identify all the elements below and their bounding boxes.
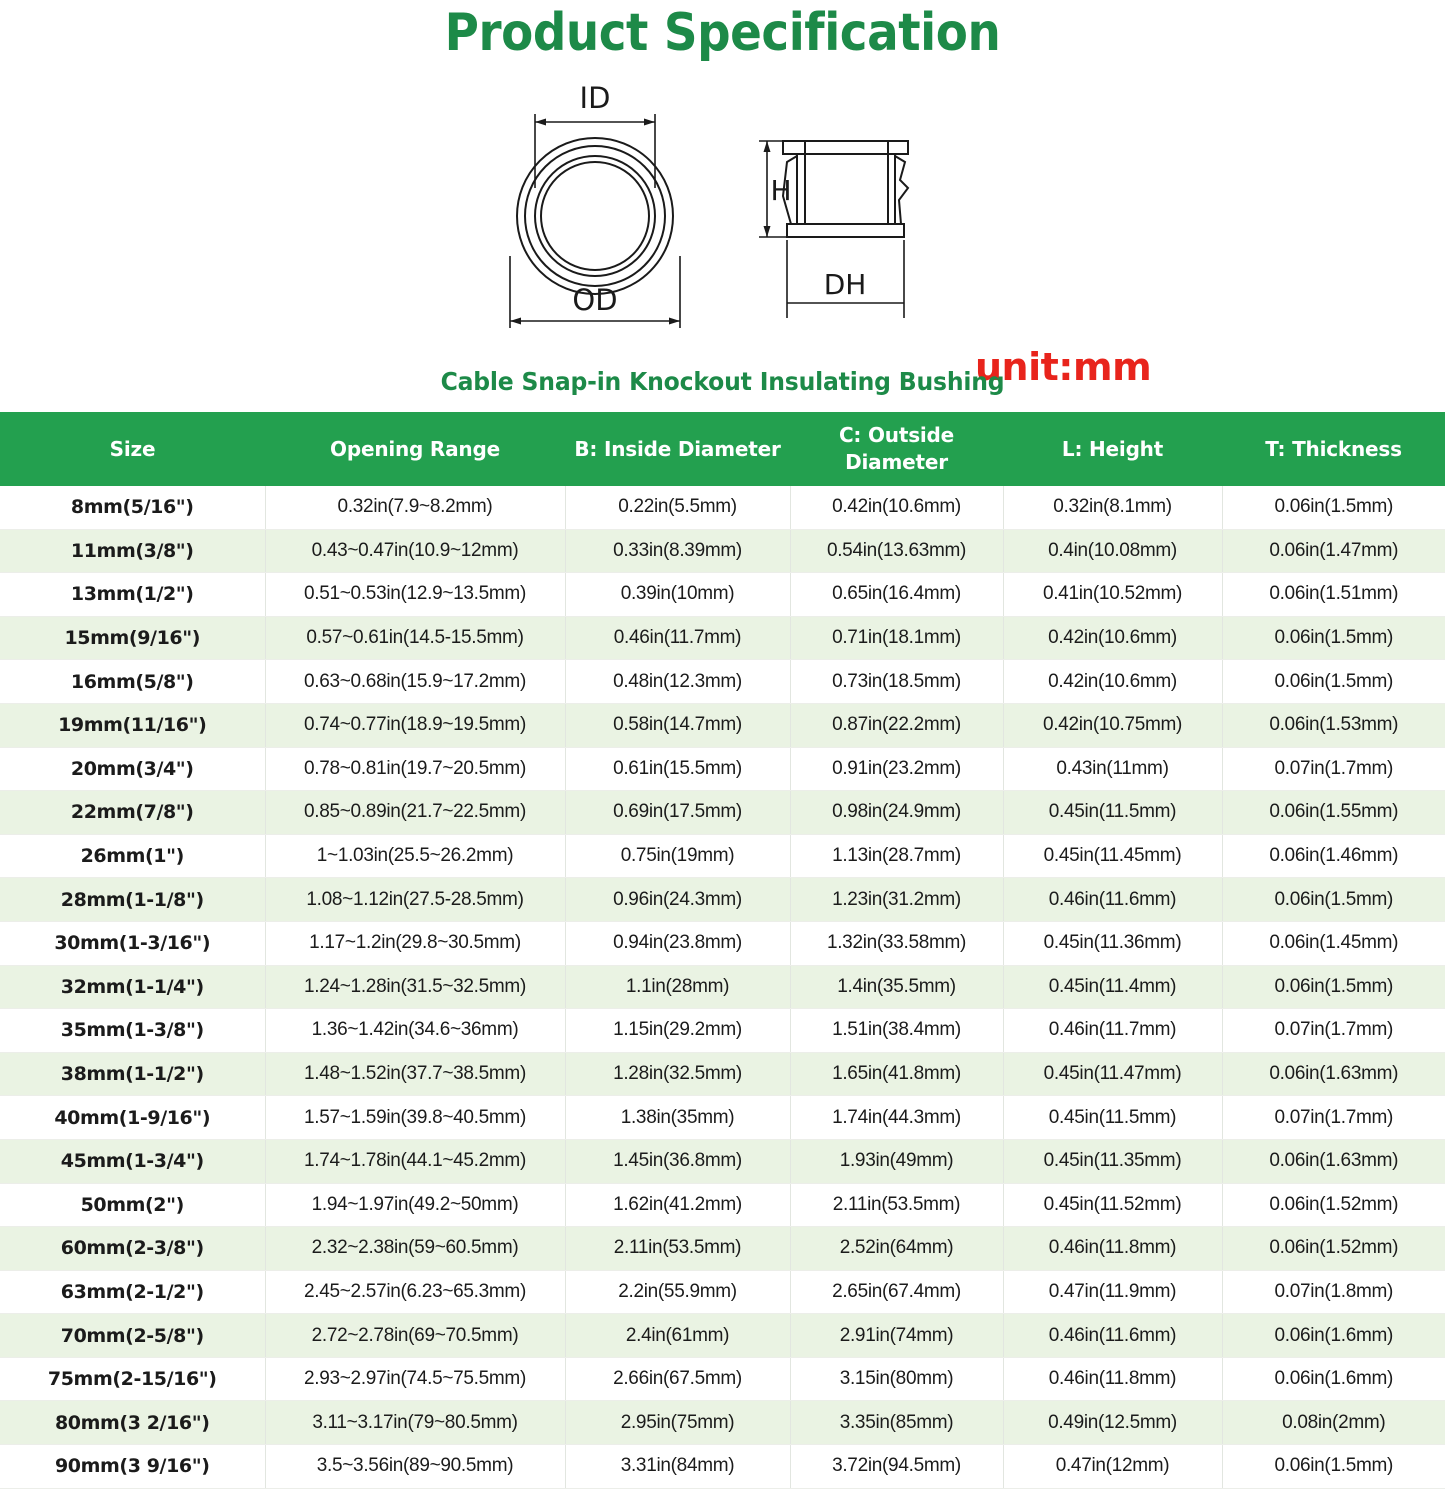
cell-opening-range: 2.72~2.78in(69~70.5mm) — [265, 1314, 565, 1358]
cell-height: 0.41in(10.52mm) — [1003, 573, 1222, 617]
cell-inside-diameter: 0.61in(15.5mm) — [565, 747, 790, 791]
table-row: 15mm(9/16")0.57~0.61in(14.5-15.5mm)0.46i… — [0, 616, 1445, 660]
column-header-outside-diameter: C: Outside Diameter — [790, 412, 1003, 486]
cell-inside-diameter: 0.46in(11.7mm) — [565, 616, 790, 660]
cell-inside-diameter: 1.28in(32.5mm) — [565, 1052, 790, 1096]
outer-diameter-circle-inner-edge — [525, 146, 665, 286]
cell-height: 0.46in(11.8mm) — [1003, 1357, 1222, 1401]
cell-opening-range: 2.32~2.38in(59~60.5mm) — [265, 1227, 565, 1271]
cell-height: 0.46in(11.8mm) — [1003, 1227, 1222, 1271]
table-row: 90mm(3 9/16")3.5~3.56in(89~90.5mm)3.31in… — [0, 1445, 1445, 1489]
page-title: Product Specification — [72, 2, 1373, 64]
od-label: OD — [572, 283, 617, 317]
cell-opening-range: 1.94~1.97in(49.2~50mm) — [265, 1183, 565, 1227]
bottom-lip — [787, 224, 904, 237]
cell-thickness: 0.06in(1.45mm) — [1222, 921, 1445, 965]
cell-outside-diameter: 0.87in(22.2mm) — [790, 703, 1003, 747]
column-header-thickness: T: Thickness — [1222, 412, 1445, 486]
cell-height: 0.46in(11.6mm) — [1003, 878, 1222, 922]
dh-label: DH — [824, 268, 867, 301]
product-subtitle: Cable Snap-in Knockout Insulating Bushin… — [43, 365, 1401, 399]
cell-outside-diameter: 2.65in(67.4mm) — [790, 1270, 1003, 1314]
cell-outside-diameter: 1.4in(35.5mm) — [790, 965, 1003, 1009]
cell-inside-diameter: 1.15in(29.2mm) — [565, 1009, 790, 1053]
cell-opening-range: 1.17~1.2in(29.8~30.5mm) — [265, 921, 565, 965]
cell-inside-diameter: 1.38in(35mm) — [565, 1096, 790, 1140]
cell-height: 0.45in(11.47mm) — [1003, 1052, 1222, 1096]
table-row: 63mm(2-1/2")2.45~2.57in(6.23~65.3mm)2.2i… — [0, 1270, 1445, 1314]
cell-size: 70mm(2-5/8") — [0, 1314, 265, 1358]
cell-size: 75mm(2-15/16") — [0, 1357, 265, 1401]
cell-outside-diameter: 2.52in(64mm) — [790, 1227, 1003, 1271]
cell-size: 35mm(1-3/8") — [0, 1009, 265, 1053]
cell-outside-diameter: 1.74in(44.3mm) — [790, 1096, 1003, 1140]
cell-thickness: 0.06in(1.5mm) — [1222, 1445, 1445, 1489]
cell-outside-diameter: 0.65in(16.4mm) — [790, 573, 1003, 617]
column-header-height: L: Height — [1003, 412, 1222, 486]
cell-outside-diameter: 1.32in(33.58mm) — [790, 921, 1003, 965]
cell-inside-diameter: 0.58in(14.7mm) — [565, 703, 790, 747]
table-row: 32mm(1-1/4")1.24~1.28in(31.5~32.5mm)1.1i… — [0, 965, 1445, 1009]
column-header-size: Size — [0, 412, 265, 486]
cell-size: 40mm(1-9/16") — [0, 1096, 265, 1140]
cell-size: 63mm(2-1/2") — [0, 1270, 265, 1314]
cell-size: 13mm(1/2") — [0, 573, 265, 617]
cell-height: 0.42in(10.6mm) — [1003, 616, 1222, 660]
cell-thickness: 0.06in(1.6mm) — [1222, 1357, 1445, 1401]
cell-outside-diameter: 0.71in(18.1mm) — [790, 616, 1003, 660]
cell-thickness: 0.06in(1.52mm) — [1222, 1227, 1445, 1271]
cell-outside-diameter: 0.98in(24.9mm) — [790, 791, 1003, 835]
cell-thickness: 0.06in(1.63mm) — [1222, 1139, 1445, 1183]
cell-opening-range: 0.78~0.81in(19.7~20.5mm) — [265, 747, 565, 791]
side-view-diagram: H DH — [745, 128, 975, 328]
cell-height: 0.45in(11.35mm) — [1003, 1139, 1222, 1183]
cell-inside-diameter: 0.75in(19mm) — [565, 834, 790, 878]
cell-inside-diameter: 0.39in(10mm) — [565, 573, 790, 617]
cell-opening-range: 0.85~0.89in(21.7~22.5mm) — [265, 791, 565, 835]
specification-table-container: Size Opening Range B: Inside Diameter C:… — [0, 412, 1445, 1489]
cell-size: 28mm(1-1/8") — [0, 878, 265, 922]
cell-thickness: 0.06in(1.6mm) — [1222, 1314, 1445, 1358]
table-body: 8mm(5/16")0.32in(7.9~8.2mm)0.22in(5.5mm)… — [0, 486, 1445, 1488]
table-row: 30mm(1-3/16")1.17~1.2in(29.8~30.5mm)0.94… — [0, 921, 1445, 965]
cell-outside-diameter: 1.51in(38.4mm) — [790, 1009, 1003, 1053]
cell-opening-range: 0.43~0.47in(10.9~12mm) — [265, 529, 565, 573]
cell-size: 38mm(1-1/2") — [0, 1052, 265, 1096]
cell-height: 0.43in(11mm) — [1003, 747, 1222, 791]
cell-opening-range: 0.32in(7.9~8.2mm) — [265, 486, 565, 529]
cell-thickness: 0.07in(1.8mm) — [1222, 1270, 1445, 1314]
cell-inside-diameter: 0.22in(5.5mm) — [565, 486, 790, 529]
cell-thickness: 0.06in(1.5mm) — [1222, 616, 1445, 660]
cell-size: 15mm(9/16") — [0, 616, 265, 660]
cell-inside-diameter: 2.11in(53.5mm) — [565, 1227, 790, 1271]
cell-thickness: 0.06in(1.53mm) — [1222, 703, 1445, 747]
cell-height: 0.45in(11.5mm) — [1003, 1096, 1222, 1140]
cell-outside-diameter: 1.65in(41.8mm) — [790, 1052, 1003, 1096]
cell-inside-diameter: 2.95in(75mm) — [565, 1401, 790, 1445]
table-row: 13mm(1/2")0.51~0.53in(12.9~13.5mm)0.39in… — [0, 573, 1445, 617]
table-row: 11mm(3/8")0.43~0.47in(10.9~12mm)0.33in(8… — [0, 529, 1445, 573]
cell-inside-diameter: 0.48in(12.3mm) — [565, 660, 790, 704]
cell-height: 0.45in(11.5mm) — [1003, 791, 1222, 835]
inside-diameter-circle-inner-edge — [541, 162, 649, 270]
cell-thickness: 0.06in(1.63mm) — [1222, 1052, 1445, 1096]
cell-inside-diameter: 1.45in(36.8mm) — [565, 1139, 790, 1183]
cell-thickness: 0.06in(1.5mm) — [1222, 660, 1445, 704]
cell-size: 8mm(5/16") — [0, 486, 265, 529]
cell-opening-range: 1.74~1.78in(44.1~45.2mm) — [265, 1139, 565, 1183]
cell-size: 60mm(2-3/8") — [0, 1227, 265, 1271]
table-row: 50mm(2")1.94~1.97in(49.2~50mm)1.62in(41.… — [0, 1183, 1445, 1227]
product-diagrams: ID OD — [0, 72, 1445, 350]
cell-height: 0.47in(12mm) — [1003, 1445, 1222, 1489]
cell-height: 0.45in(11.45mm) — [1003, 834, 1222, 878]
cell-opening-range: 0.63~0.68in(15.9~17.2mm) — [265, 660, 565, 704]
cell-height: 0.46in(11.7mm) — [1003, 1009, 1222, 1053]
cell-height: 0.45in(11.4mm) — [1003, 965, 1222, 1009]
table-row: 75mm(2-15/16")2.93~2.97in(74.5~75.5mm)2.… — [0, 1357, 1445, 1401]
table-row: 26mm(1")1~1.03in(25.5~26.2mm)0.75in(19mm… — [0, 834, 1445, 878]
cell-inside-diameter: 0.69in(17.5mm) — [565, 791, 790, 835]
cell-size: 16mm(5/8") — [0, 660, 265, 704]
cell-height: 0.42in(10.6mm) — [1003, 660, 1222, 704]
table-header-row: Size Opening Range B: Inside Diameter C:… — [0, 412, 1445, 486]
cell-size: 45mm(1-3/4") — [0, 1139, 265, 1183]
cell-thickness: 0.06in(1.5mm) — [1222, 878, 1445, 922]
table-row: 8mm(5/16")0.32in(7.9~8.2mm)0.22in(5.5mm)… — [0, 486, 1445, 529]
top-flange — [783, 141, 908, 154]
cell-outside-diameter: 2.11in(53.5mm) — [790, 1183, 1003, 1227]
cell-outside-diameter: 0.54in(13.63mm) — [790, 529, 1003, 573]
cell-thickness: 0.06in(1.47mm) — [1222, 529, 1445, 573]
cell-opening-range: 1~1.03in(25.5~26.2mm) — [265, 834, 565, 878]
cell-height: 0.42in(10.75mm) — [1003, 703, 1222, 747]
cell-height: 0.46in(11.6mm) — [1003, 1314, 1222, 1358]
table-row: 80mm(3 2/16")3.11~3.17in(79~80.5mm)2.95i… — [0, 1401, 1445, 1445]
cell-opening-range: 1.08~1.12in(27.5-28.5mm) — [265, 878, 565, 922]
cell-inside-diameter: 2.66in(67.5mm) — [565, 1357, 790, 1401]
table-row: 20mm(3/4")0.78~0.81in(19.7~20.5mm)0.61in… — [0, 747, 1445, 791]
cell-outside-diameter: 1.23in(31.2mm) — [790, 878, 1003, 922]
table-row: 19mm(11/16")0.74~0.77in(18.9~19.5mm)0.58… — [0, 703, 1445, 747]
right-snap-fin — [895, 156, 908, 224]
cell-opening-range: 2.45~2.57in(6.23~65.3mm) — [265, 1270, 565, 1314]
cell-inside-diameter: 1.1in(28mm) — [565, 965, 790, 1009]
cell-thickness: 0.06in(1.46mm) — [1222, 834, 1445, 878]
cell-thickness: 0.06in(1.52mm) — [1222, 1183, 1445, 1227]
cell-thickness: 0.07in(1.7mm) — [1222, 747, 1445, 791]
cell-height: 0.45in(11.36mm) — [1003, 921, 1222, 965]
cell-outside-diameter: 2.91in(74mm) — [790, 1314, 1003, 1358]
cell-height: 0.4in(10.08mm) — [1003, 529, 1222, 573]
cell-thickness: 0.08in(2mm) — [1222, 1401, 1445, 1445]
cell-size: 90mm(3 9/16") — [0, 1445, 265, 1489]
cell-opening-range: 2.93~2.97in(74.5~75.5mm) — [265, 1357, 565, 1401]
table-row: 35mm(1-3/8")1.36~1.42in(34.6~36mm)1.15in… — [0, 1009, 1445, 1053]
product-specification-page: Product Specification — [0, 0, 1445, 1392]
cell-opening-range: 3.11~3.17in(79~80.5mm) — [265, 1401, 565, 1445]
front-view-diagram: ID OD — [470, 78, 720, 346]
cell-size: 20mm(3/4") — [0, 747, 265, 791]
h-label: H — [770, 174, 791, 207]
column-header-opening-range: Opening Range — [265, 412, 565, 486]
table-row: 16mm(5/8")0.63~0.68in(15.9~17.2mm)0.48in… — [0, 660, 1445, 704]
cell-height: 0.32in(8.1mm) — [1003, 486, 1222, 529]
cell-opening-range: 1.24~1.28in(31.5~32.5mm) — [265, 965, 565, 1009]
cell-outside-diameter: 0.42in(10.6mm) — [790, 486, 1003, 529]
cell-thickness: 0.07in(1.7mm) — [1222, 1009, 1445, 1053]
cell-opening-range: 1.48~1.52in(37.7~38.5mm) — [265, 1052, 565, 1096]
table-row: 38mm(1-1/2")1.48~1.52in(37.7~38.5mm)1.28… — [0, 1052, 1445, 1096]
cell-size: 50mm(2") — [0, 1183, 265, 1227]
cell-thickness: 0.06in(1.51mm) — [1222, 573, 1445, 617]
cell-inside-diameter: 2.2in(55.9mm) — [565, 1270, 790, 1314]
column-header-inside-diameter: B: Inside Diameter — [565, 412, 790, 486]
cell-opening-range: 0.57~0.61in(14.5-15.5mm) — [265, 616, 565, 660]
cell-outside-diameter: 0.91in(23.2mm) — [790, 747, 1003, 791]
cell-outside-diameter: 0.73in(18.5mm) — [790, 660, 1003, 704]
specification-table: Size Opening Range B: Inside Diameter C:… — [0, 412, 1445, 1489]
table-header: Size Opening Range B: Inside Diameter C:… — [0, 412, 1445, 486]
table-row: 45mm(1-3/4")1.74~1.78in(44.1~45.2mm)1.45… — [0, 1139, 1445, 1183]
cell-thickness: 0.07in(1.7mm) — [1222, 1096, 1445, 1140]
cell-size: 30mm(1-3/16") — [0, 921, 265, 965]
cell-thickness: 0.06in(1.5mm) — [1222, 486, 1445, 529]
cell-inside-diameter: 0.33in(8.39mm) — [565, 529, 790, 573]
cell-height: 0.47in(11.9mm) — [1003, 1270, 1222, 1314]
cell-inside-diameter: 0.94in(23.8mm) — [565, 921, 790, 965]
id-label: ID — [580, 81, 611, 115]
cell-outside-diameter: 3.72in(94.5mm) — [790, 1445, 1003, 1489]
cell-size: 19mm(11/16") — [0, 703, 265, 747]
table-row: 28mm(1-1/8")1.08~1.12in(27.5-28.5mm)0.96… — [0, 878, 1445, 922]
cell-opening-range: 1.57~1.59in(39.8~40.5mm) — [265, 1096, 565, 1140]
cell-outside-diameter: 1.13in(28.7mm) — [790, 834, 1003, 878]
cell-opening-range: 0.74~0.77in(18.9~19.5mm) — [265, 703, 565, 747]
cell-outside-diameter: 3.15in(80mm) — [790, 1357, 1003, 1401]
cell-thickness: 0.06in(1.5mm) — [1222, 965, 1445, 1009]
cell-outside-diameter: 1.93in(49mm) — [790, 1139, 1003, 1183]
cell-inside-diameter: 0.96in(24.3mm) — [565, 878, 790, 922]
cell-height: 0.49in(12.5mm) — [1003, 1401, 1222, 1445]
table-row: 60mm(2-3/8")2.32~2.38in(59~60.5mm)2.11in… — [0, 1227, 1445, 1271]
cell-size: 11mm(3/8") — [0, 529, 265, 573]
table-row: 22mm(7/8")0.85~0.89in(21.7~22.5mm)0.69in… — [0, 791, 1445, 835]
bushing-body — [797, 154, 895, 224]
cell-size: 32mm(1-1/4") — [0, 965, 265, 1009]
cell-thickness: 0.06in(1.55mm) — [1222, 791, 1445, 835]
cell-outside-diameter: 3.35in(85mm) — [790, 1401, 1003, 1445]
cell-opening-range: 0.51~0.53in(12.9~13.5mm) — [265, 573, 565, 617]
cell-height: 0.45in(11.52mm) — [1003, 1183, 1222, 1227]
cell-inside-diameter: 2.4in(61mm) — [565, 1314, 790, 1358]
cell-size: 80mm(3 2/16") — [0, 1401, 265, 1445]
cell-inside-diameter: 1.62in(41.2mm) — [565, 1183, 790, 1227]
inside-diameter-circle — [535, 156, 655, 276]
table-row: 40mm(1-9/16")1.57~1.59in(39.8~40.5mm)1.3… — [0, 1096, 1445, 1140]
cell-inside-diameter: 3.31in(84mm) — [565, 1445, 790, 1489]
cell-opening-range: 1.36~1.42in(34.6~36mm) — [265, 1009, 565, 1053]
table-row: 70mm(2-5/8")2.72~2.78in(69~70.5mm)2.4in(… — [0, 1314, 1445, 1358]
cell-opening-range: 3.5~3.56in(89~90.5mm) — [265, 1445, 565, 1489]
cell-size: 22mm(7/8") — [0, 791, 265, 835]
cell-size: 26mm(1") — [0, 834, 265, 878]
